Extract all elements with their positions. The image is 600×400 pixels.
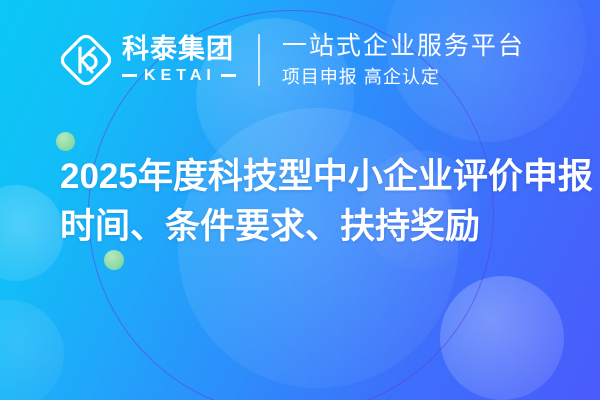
brand-name-en-row: KETAI	[122, 67, 236, 85]
brand-logo: 科泰集团 KETAI	[58, 32, 236, 88]
header-divider	[258, 34, 260, 86]
banner-title-line-1: 2025年度科技型中小企业评价申报	[60, 152, 580, 202]
decorative-circle-bottom-right	[440, 276, 564, 400]
wordmark-rule-right	[221, 74, 236, 77]
brand-name-cn: 科泰集团	[122, 36, 236, 63]
banner-title: 2025年度科技型中小企业评价申报 时间、条件要求、扶持奖励	[60, 152, 580, 251]
header-tagline: 一站式企业服务平台 项目申报 高企认定	[282, 32, 525, 89]
tagline-secondary: 项目申报 高企认定	[282, 66, 525, 89]
promo-banner: 科泰集团 KETAI 一站式企业服务平台 项目申报 高企认定 2025年度科技型…	[0, 0, 600, 400]
decorative-circle-bottom-left	[0, 300, 64, 400]
decorative-circle-left-edge	[0, 185, 64, 281]
banner-header: 科泰集团 KETAI 一站式企业服务平台 项目申报 高企认定	[0, 0, 600, 120]
wordmark-rule-left	[122, 74, 137, 77]
decorative-dot-green-upper	[56, 132, 75, 151]
decorative-dot-green-lower	[104, 250, 124, 270]
banner-title-line-2: 时间、条件要求、扶持奖励	[60, 202, 580, 252]
ketai-diamond-k-logo-icon	[58, 32, 114, 88]
brand-wordmark: 科泰集团 KETAI	[122, 36, 236, 85]
tagline-primary: 一站式企业服务平台	[282, 32, 525, 62]
brand-name-en: KETAI	[144, 67, 216, 85]
